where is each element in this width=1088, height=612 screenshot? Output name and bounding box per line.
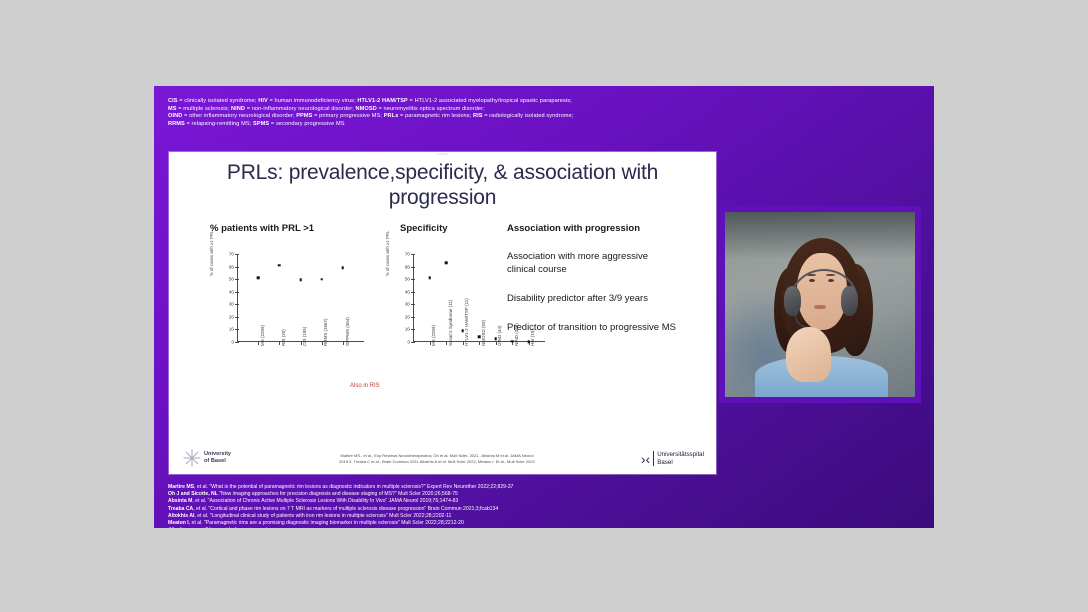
association-point: Predictor of transition to progressive M… bbox=[507, 321, 677, 334]
y-tick bbox=[235, 292, 239, 293]
data-point bbox=[257, 277, 260, 280]
y-tick-label: 70 bbox=[229, 252, 234, 257]
column-header-association: Association with progression bbox=[507, 223, 640, 234]
abbreviation-line: MS = multiple sclerosis; NIND = non-infl… bbox=[168, 106, 868, 114]
x-tick-label: MS (2259) bbox=[431, 325, 436, 346]
data-point bbox=[342, 267, 345, 270]
citation-line-2: 2019 2. Treaba C et al., Brain Commun 20… bbox=[277, 459, 597, 465]
x-tick bbox=[343, 342, 344, 345]
reference-line: All references will be provided upon req… bbox=[168, 527, 868, 528]
y-tick bbox=[411, 267, 415, 268]
y-tick bbox=[411, 317, 415, 318]
y-tick bbox=[235, 317, 239, 318]
y-tick-label: 20 bbox=[229, 314, 234, 319]
university-line-2: of Basel bbox=[204, 458, 231, 465]
x-tick-label: RIS (33) bbox=[281, 329, 286, 346]
x-tick-label: CIS (195) bbox=[302, 327, 307, 346]
university-line-1: University bbox=[204, 451, 231, 458]
y-tick bbox=[235, 267, 239, 268]
y-tick bbox=[411, 329, 415, 330]
chart-prevalence-ylabel: % of cases with ≥1 PRL bbox=[209, 231, 214, 276]
abbreviation-line: CIS = clinically isolated syndrome; HIV … bbox=[168, 98, 868, 106]
column-header-specificity: Specificity bbox=[400, 223, 448, 234]
y-tick bbox=[411, 254, 415, 255]
association-point: Association with more aggressive clinica… bbox=[507, 250, 677, 276]
y-tick-label: 50 bbox=[229, 277, 234, 282]
x-tick-label: MS (2259) bbox=[260, 325, 265, 346]
y-tick bbox=[235, 304, 239, 305]
x-tick-label: HTLV1-2 HAM/TSP (11) bbox=[464, 298, 469, 346]
y-tick-label: 0 bbox=[407, 340, 410, 345]
abbreviation-line: RRMS = relapsing-remitting MS; SPMS = se… bbox=[168, 121, 868, 129]
column-header-prevalence: % patients with PRL >1 bbox=[210, 223, 314, 234]
slide-footer: University of Basel Martire MS.. et al.,… bbox=[169, 436, 716, 470]
usb-line-1: Universitätsspital bbox=[657, 451, 704, 458]
reference-line: Absinta M, et al. "Association of Chroni… bbox=[168, 498, 868, 505]
usb-divider bbox=[653, 451, 654, 466]
presenter-mouth bbox=[814, 305, 825, 309]
data-point bbox=[478, 336, 481, 339]
y-tick-label: 30 bbox=[229, 302, 234, 307]
x-tick-label: RRMS (1667) bbox=[323, 318, 328, 346]
association-list: Association with more aggressive clinica… bbox=[507, 250, 677, 350]
slide-title: PRLs: prevalence,specificity, & associat… bbox=[185, 160, 700, 210]
x-tick-label: Susac's Syndrome (11) bbox=[448, 300, 453, 346]
y-tick-label: 10 bbox=[229, 327, 234, 332]
y-tick-label: 40 bbox=[405, 289, 410, 294]
references-block: Martire MS, et al. "What is the potentia… bbox=[168, 484, 868, 528]
y-tick bbox=[235, 342, 239, 343]
snowflake-icon bbox=[183, 449, 200, 466]
presenter-video-panel[interactable] bbox=[719, 206, 921, 403]
x-tick-label: NMOSD (93) bbox=[481, 320, 486, 346]
usb-logo-text: Universitätsspital Basel bbox=[657, 451, 704, 466]
reference-line: Oh J and Sicotte, NL "New imaging approa… bbox=[168, 491, 868, 498]
y-tick-label: 20 bbox=[405, 314, 410, 319]
reference-line: Martire MS, et al. "What is the potentia… bbox=[168, 484, 868, 491]
presenter-hand bbox=[786, 327, 832, 383]
y-tick bbox=[411, 292, 415, 293]
y-tick bbox=[411, 304, 415, 305]
y-tick-label: 60 bbox=[229, 264, 234, 269]
usb-mark-icon: ›‹ bbox=[641, 453, 650, 465]
y-tick bbox=[235, 329, 239, 330]
y-tick bbox=[235, 254, 239, 255]
y-tick-label: 0 bbox=[231, 340, 234, 345]
reference-line: Treaba CA, et al. "Cortical and phase ri… bbox=[168, 506, 868, 513]
university-logo-text: University of Basel bbox=[204, 451, 231, 464]
chart-prevalence: % of cases with ≥1 PRL 010203040506070 M… bbox=[211, 252, 366, 377]
data-point bbox=[299, 278, 302, 281]
y-tick-label: 50 bbox=[405, 277, 410, 282]
y-tick-label: 10 bbox=[405, 327, 410, 332]
x-tick bbox=[479, 342, 480, 345]
y-tick-label: 30 bbox=[405, 302, 410, 307]
y-tick bbox=[411, 279, 415, 280]
data-point bbox=[278, 264, 281, 267]
headset-earcup-right bbox=[841, 286, 858, 316]
x-tick-label: OIND (44) bbox=[497, 325, 502, 346]
internal-watermark: Internal bbox=[169, 153, 716, 156]
y-tick bbox=[411, 342, 415, 343]
abbreviations-legend: CIS = clinically isolated syndrome; HIV … bbox=[168, 98, 868, 128]
x-tick-label: S/PPMS (364) bbox=[345, 317, 350, 346]
x-tick bbox=[258, 342, 259, 345]
data-point bbox=[428, 277, 431, 280]
reference-line: Altokhis AI, et al. "Longitudinal clinic… bbox=[168, 513, 868, 520]
y-tick-label: 60 bbox=[405, 264, 410, 269]
y-tick-label: 70 bbox=[405, 252, 410, 257]
slide-citation: Martire MS.. et al., Exp Reviews Neuroth… bbox=[277, 453, 597, 465]
universitaetsspital-basel-logo: ›‹ Universitätsspital Basel bbox=[641, 451, 704, 466]
slide-canvas: Internal PRLs: prevalence,specificity, &… bbox=[169, 152, 716, 474]
association-point: Disability predictor after 3/9 years bbox=[507, 292, 677, 305]
usb-line-2: Basel bbox=[657, 459, 704, 466]
x-tick bbox=[446, 342, 447, 345]
chart-specificity-ylabel: % of cases with ≥1 PRL bbox=[385, 231, 390, 276]
y-tick bbox=[235, 279, 239, 280]
data-point bbox=[320, 278, 323, 281]
abbreviation-line: OIND = other inflammatory neurological d… bbox=[168, 113, 868, 121]
university-of-basel-logo: University of Basel bbox=[183, 449, 231, 466]
also-in-ris-note: Also in RIS bbox=[350, 383, 380, 389]
y-tick-label: 40 bbox=[229, 289, 234, 294]
data-point bbox=[445, 262, 448, 265]
reference-line: Meaton I, et al. "Paramagnetic rims are … bbox=[168, 520, 868, 527]
